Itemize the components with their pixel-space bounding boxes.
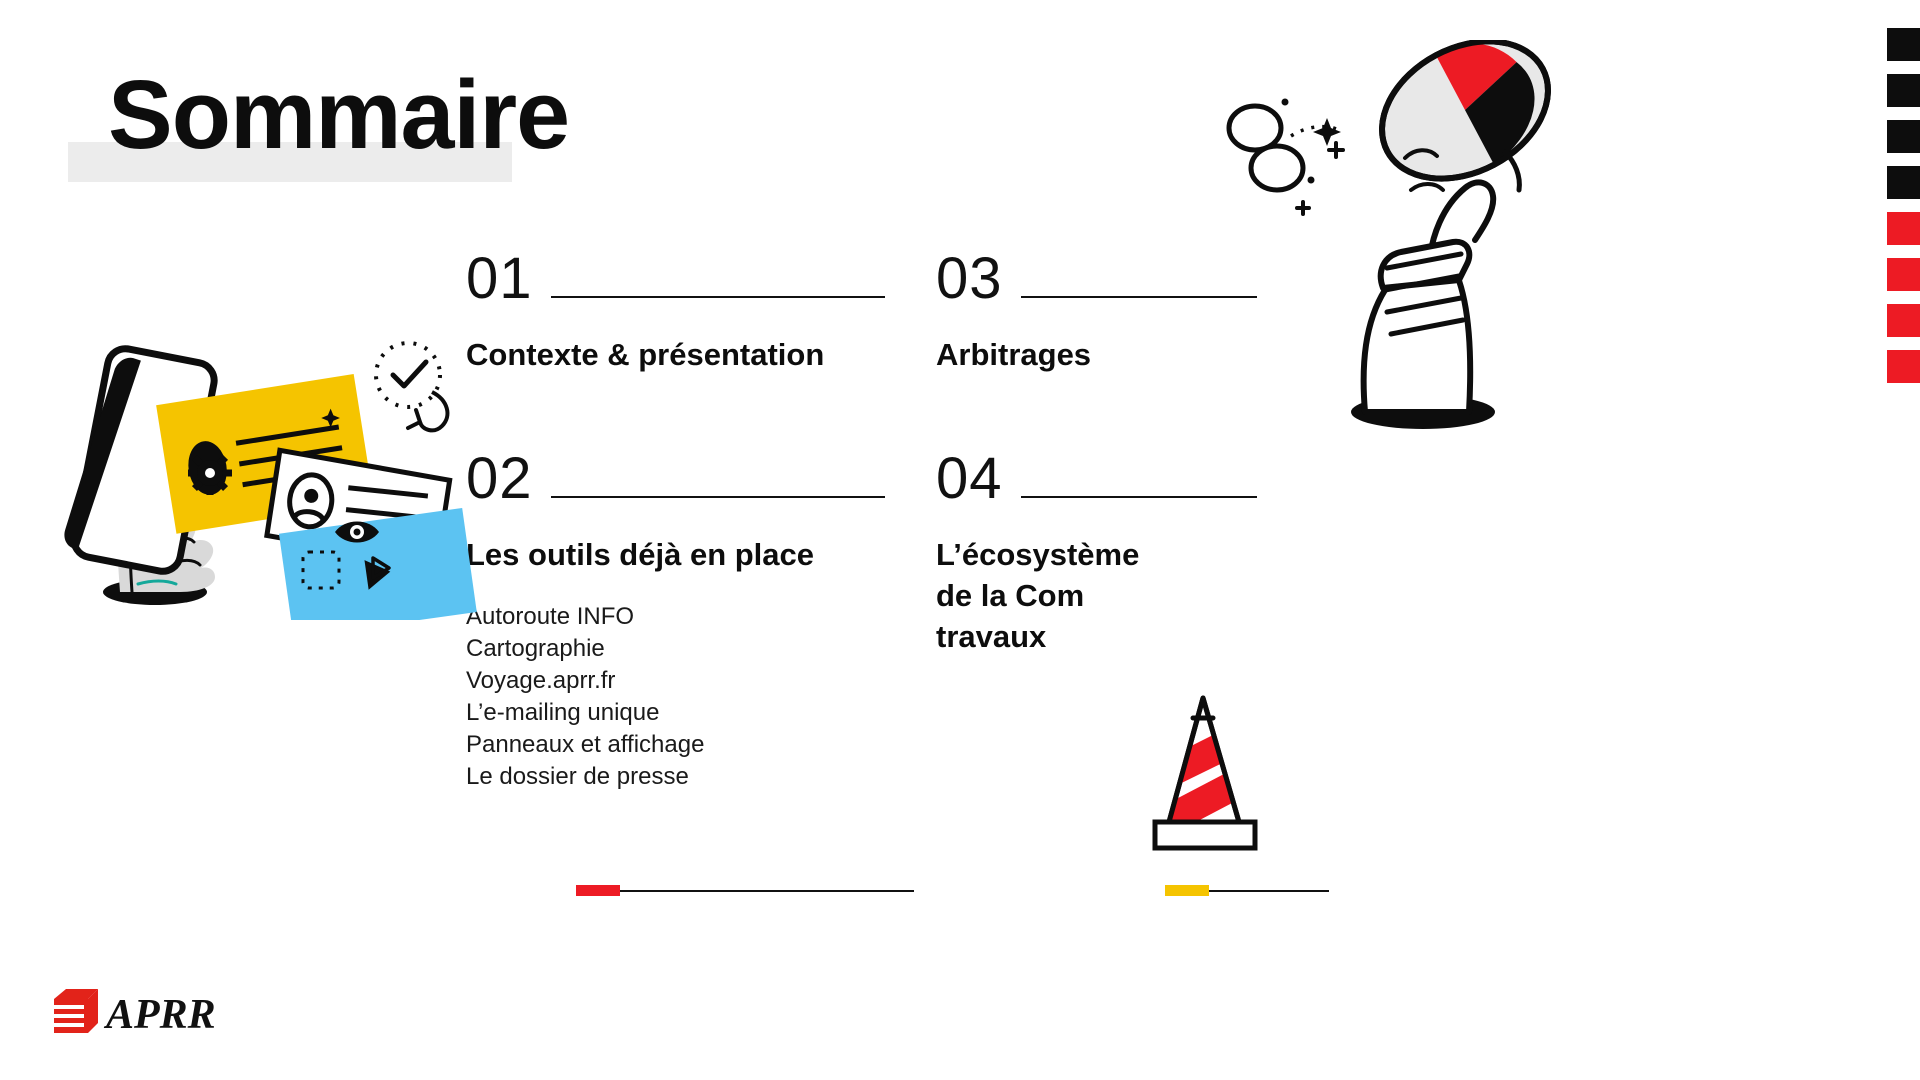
list-item[interactable]: Le dossier de presse bbox=[466, 761, 886, 793]
section-04-number-row: 04 bbox=[936, 450, 1266, 508]
section-01-rule bbox=[551, 296, 885, 298]
page-title: Sommaire bbox=[68, 60, 569, 170]
section-02-rule bbox=[551, 496, 885, 498]
accent-line bbox=[1209, 890, 1329, 892]
edge-square-1 bbox=[1887, 28, 1920, 61]
list-item[interactable]: Panneaux et affichage bbox=[466, 729, 886, 761]
section-04: 04 L’écosystème de la Com travaux bbox=[936, 450, 1266, 657]
edge-square-6 bbox=[1887, 258, 1920, 291]
accent-bar-right bbox=[1165, 885, 1329, 896]
edge-square-strip bbox=[1887, 28, 1920, 396]
edge-square-3 bbox=[1887, 120, 1920, 153]
slide-root: Sommaire 01 Contexte & présentation 02 L… bbox=[0, 0, 1920, 1080]
edge-square-4 bbox=[1887, 166, 1920, 199]
section-01-title[interactable]: Contexte & présentation bbox=[466, 334, 886, 375]
section-02-list: Autoroute INFO Cartographie Voyage.aprr.… bbox=[466, 601, 886, 793]
edge-square-2 bbox=[1887, 74, 1920, 107]
edge-square-5 bbox=[1887, 212, 1920, 245]
section-04-rule bbox=[1021, 496, 1257, 498]
aprr-logo-text: APRR bbox=[106, 994, 216, 1036]
list-item[interactable]: Autoroute INFO bbox=[466, 601, 886, 633]
edge-square-7 bbox=[1887, 304, 1920, 337]
thumbs-up-megaphone-illustration bbox=[1215, 40, 1605, 445]
section-01-number-row: 01 bbox=[466, 250, 886, 308]
title-text: Sommaire bbox=[68, 60, 569, 170]
section-01: 01 Contexte & présentation bbox=[466, 250, 886, 375]
traffic-cone-illustration bbox=[1115, 690, 1295, 865]
section-04-title[interactable]: L’écosystème de la Com travaux bbox=[936, 534, 1266, 657]
section-02-number-row: 02 bbox=[466, 450, 886, 508]
accent-line bbox=[620, 890, 914, 892]
aprr-logo[interactable]: APRR bbox=[44, 985, 216, 1044]
section-02-title[interactable]: Les outils déjà en place bbox=[466, 534, 886, 575]
accent-chip-red bbox=[576, 885, 620, 896]
accent-bar-left bbox=[576, 885, 914, 896]
section-01-number: 01 bbox=[466, 250, 533, 308]
list-item[interactable]: Voyage.aprr.fr bbox=[466, 665, 886, 697]
section-02: 02 Les outils déjà en place Autoroute IN… bbox=[466, 450, 886, 793]
aprr-logo-mark-icon bbox=[44, 985, 98, 1044]
section-03-number: 03 bbox=[936, 250, 1003, 308]
list-item[interactable]: Cartographie bbox=[466, 633, 886, 665]
accent-chip-yellow bbox=[1165, 885, 1209, 896]
edge-square-8 bbox=[1887, 350, 1920, 383]
section-04-number: 04 bbox=[936, 450, 1003, 508]
list-item[interactable]: L’e-mailing unique bbox=[466, 697, 886, 729]
hand-phone-messages-illustration bbox=[60, 330, 480, 625]
